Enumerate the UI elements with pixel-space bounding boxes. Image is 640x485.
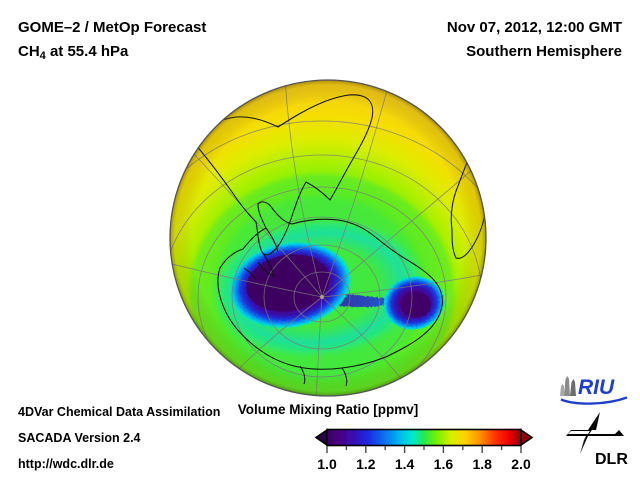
colorbar-tick-label: 1.8 (472, 456, 492, 472)
colorbar-extend-high (521, 430, 532, 445)
colorbar-tick-label: 1.0 (317, 456, 337, 472)
footer-assimilation: 4DVar Chemical Data Assimilation (18, 405, 220, 419)
dlr-mark-icon (566, 412, 624, 454)
footer-url[interactable]: http://wdc.dlr.de (18, 457, 114, 471)
riu-wordmark: RIU (578, 376, 615, 399)
south-pole-marker (320, 295, 324, 299)
figure-canvas: GOME–2 / MetOp Forecast CH4 at 55.4 hPa … (0, 0, 640, 480)
limb-shading (170, 80, 486, 396)
colorbar-extend-low (316, 430, 327, 445)
colorbar-tick-label: 1.2 (356, 456, 376, 472)
colorbar-gradient (327, 430, 521, 446)
riu-logo[interactable]: RIU (558, 372, 630, 406)
colorbar-title: Volume Mixing Ratio [ppmv] (223, 402, 433, 417)
riu-towers-icon (560, 376, 576, 396)
colorbar-ticks (327, 446, 521, 453)
dlr-wordmark: DLR (595, 451, 628, 468)
colorbar-tick-label: 1.6 (434, 456, 454, 472)
colorbar-tick-label: 1.4 (395, 456, 415, 472)
colorbar-tick-label: 2.0 (511, 456, 531, 472)
dlr-logo[interactable]: DLR (562, 410, 628, 470)
colorbar-tick-labels: 1.0 1.2 1.4 1.6 1.8 2.0 (317, 456, 531, 472)
footer-version: SACADA Version 2.4 (18, 431, 141, 445)
colorbar[interactable]: 1.0 1.2 1.4 1.6 1.8 2.0 (310, 419, 544, 475)
